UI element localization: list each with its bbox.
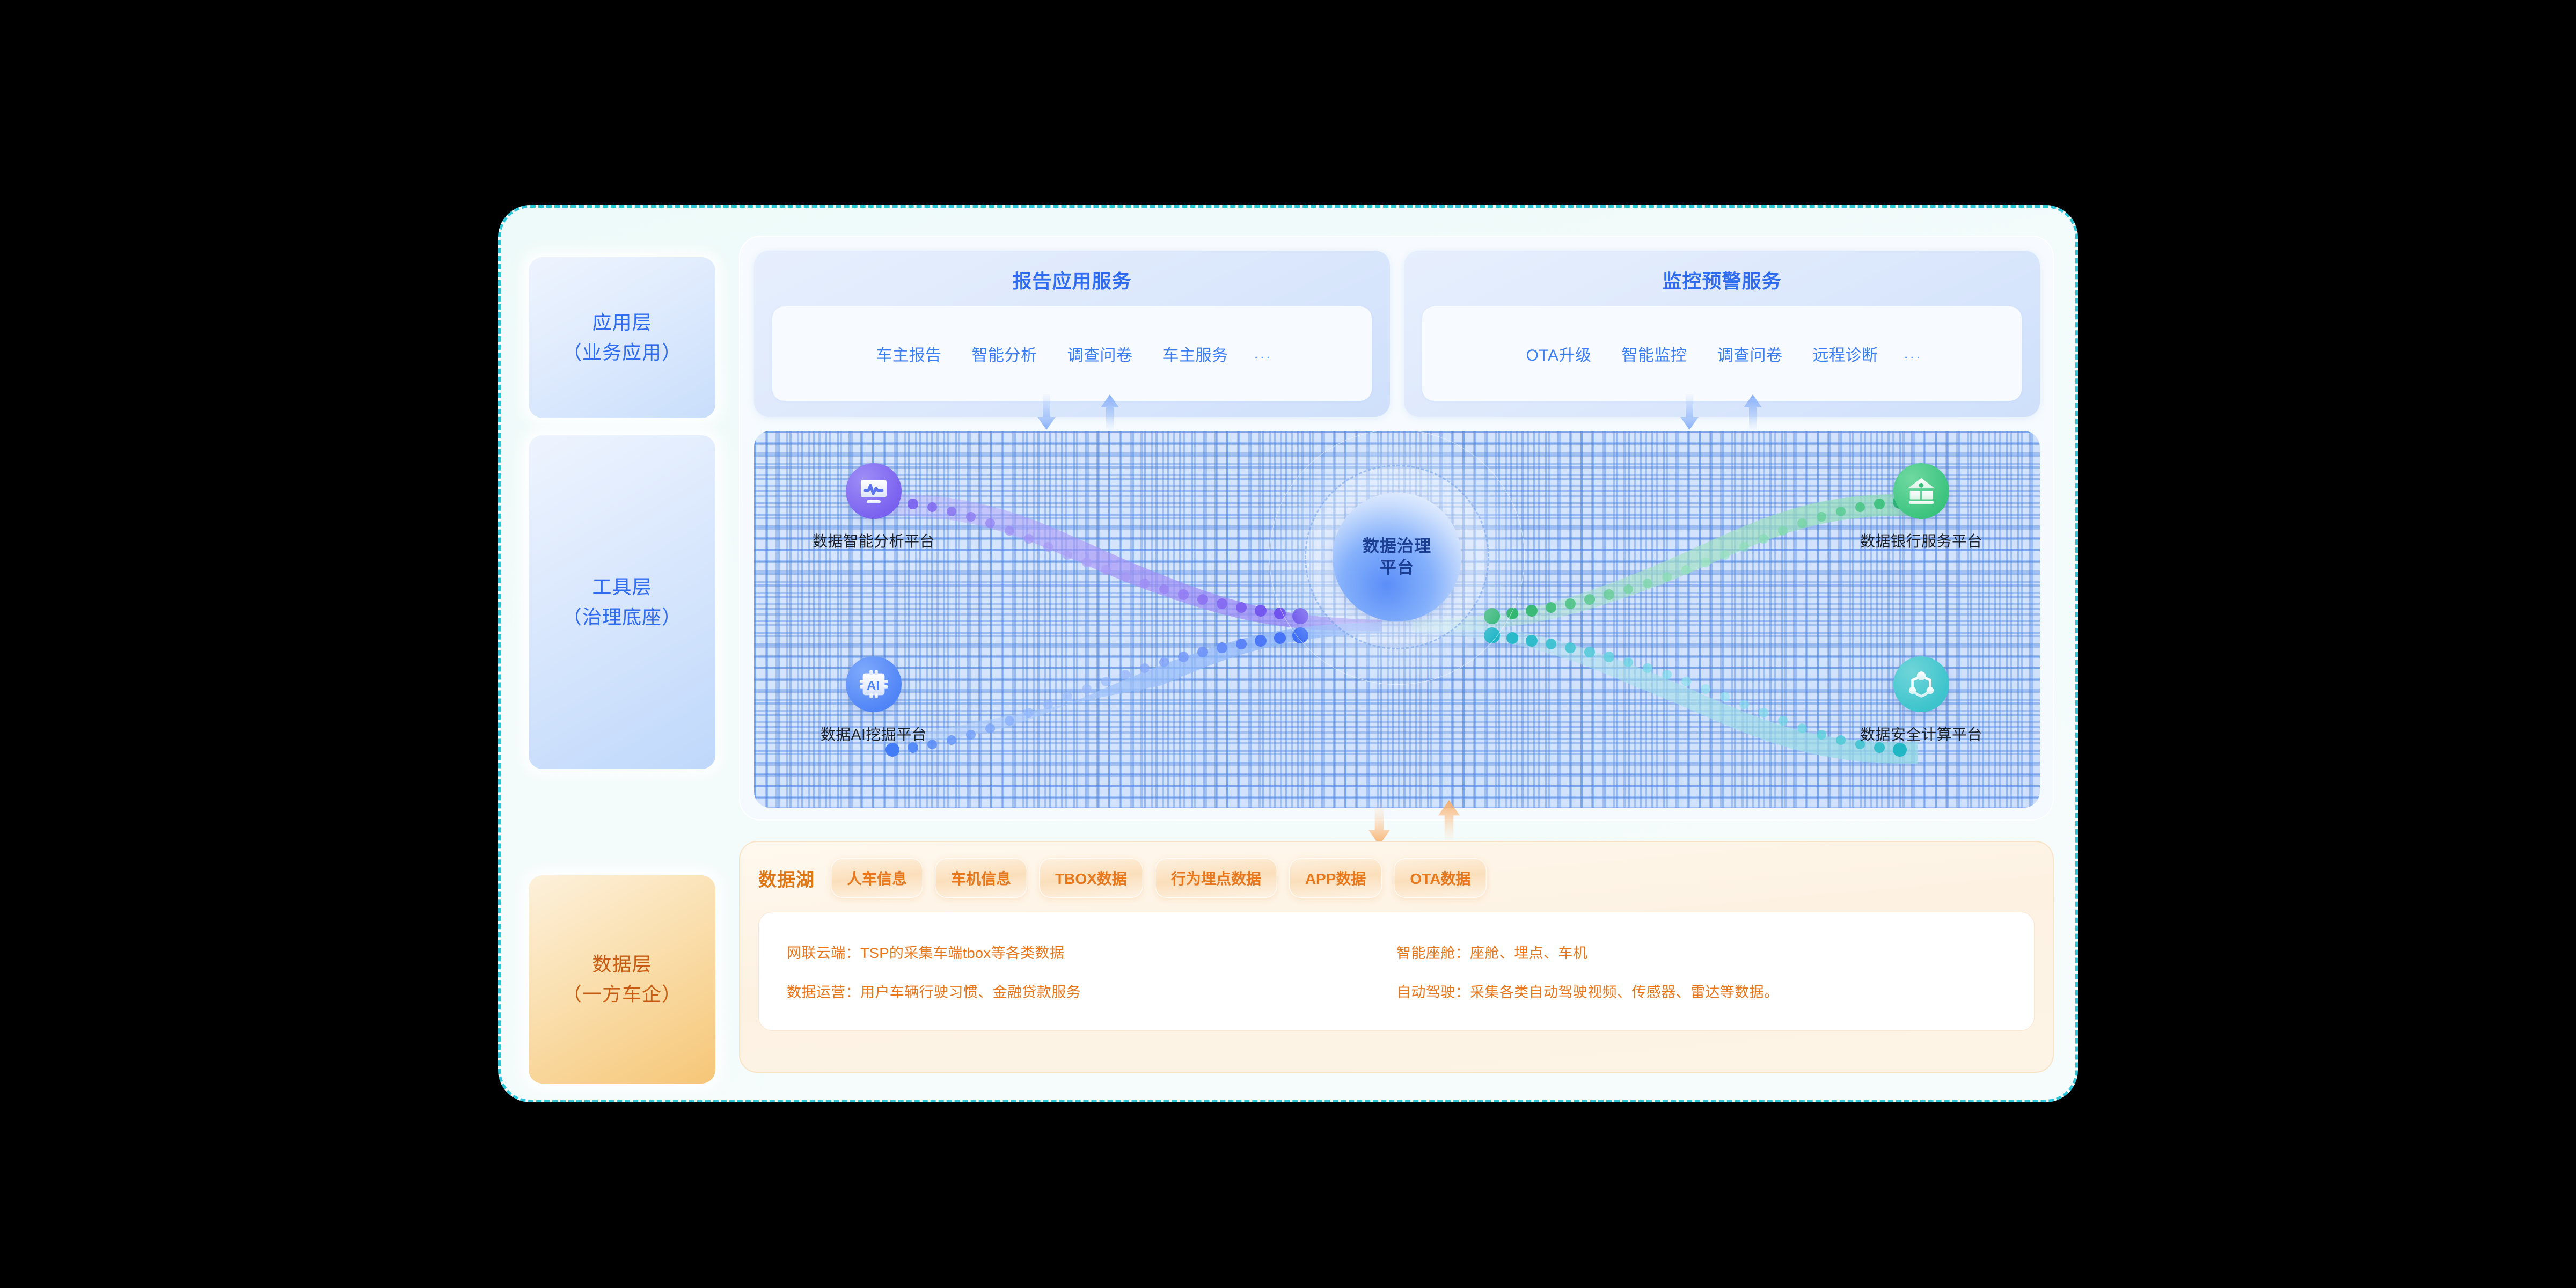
arrow-up-report-icon xyxy=(1101,394,1119,430)
svg-text:AI: AI xyxy=(867,679,880,693)
service-item-owner-report[interactable]: 车主报告 xyxy=(861,342,956,365)
arrow-down-report-icon xyxy=(1037,394,1056,430)
data-tag-vehicle-machine[interactable]: 车机信息 xyxy=(935,858,1027,898)
arrow-down-datalake-icon xyxy=(1365,803,1394,845)
data-lake-tag-row: 数据湖 人车信息 车机信息 TBOX数据 行为埋点数据 APP数据 OTA数据 xyxy=(758,858,2035,898)
layer-data-title: 数据层 xyxy=(592,949,652,979)
service-card-report-items: 车主报告 智能分析 调查问卷 车主服务 ... xyxy=(772,306,1372,401)
arrow-up-datalake-icon xyxy=(1435,800,1463,842)
architecture-diagram-container: 应用层 （业务应用） 工具层 （治理底座） 数据层 （一方车企） 报告应用服务 … xyxy=(498,205,2078,1102)
layer-label-tool[interactable]: 工具层 （治理底座） xyxy=(529,435,715,769)
layer-app-subtitle: （业务应用） xyxy=(562,338,682,368)
data-tag-behavior-tracking[interactable]: 行为埋点数据 xyxy=(1155,858,1277,898)
layer-label-data[interactable]: 数据层 （一方车企） xyxy=(529,875,715,1084)
detail-line-autonomous: 自动驾驶：采集各类自动驾驶视频、传感器、雷达等数据。 xyxy=(1396,980,2006,1001)
detail-line-cockpit: 智能座舱：座舱、埋点、车机 xyxy=(1396,941,2006,962)
platform-node-analysis[interactable]: 数据智能分析平台 xyxy=(812,463,935,551)
data-governance-hub[interactable]: 数据治理 平台 xyxy=(1333,493,1461,621)
platform-node-security-label: 数据安全计算平台 xyxy=(1860,723,1982,744)
service-item-smart-analysis[interactable]: 智能分析 xyxy=(956,342,1052,365)
data-tag-tbox[interactable]: TBOX数据 xyxy=(1039,858,1143,898)
data-tag-ota[interactable]: OTA数据 xyxy=(1394,858,1487,898)
layer-tool-subtitle: （治理底座） xyxy=(562,602,682,632)
shield-network-icon xyxy=(1893,656,1949,712)
service-card-monitor-items: OTA升级 智能监控 调查问卷 远程诊断 ... xyxy=(1422,306,2022,401)
data-lake-detail-box: 网联云端：TSP的采集车端tbox等各类数据 数据运营：用户车辆行驶习惯、金融贷… xyxy=(758,912,2035,1031)
service-card-report[interactable]: 报告应用服务 车主报告 智能分析 调查问卷 车主服务 ... xyxy=(754,251,1390,417)
service-item-ota-upgrade[interactable]: OTA升级 xyxy=(1511,342,1607,365)
detail-line-operations: 数据运营：用户车辆行驶习惯、金融贷款服务 xyxy=(787,980,1396,1001)
service-card-report-title: 报告应用服务 xyxy=(772,266,1372,294)
tool-layer-canvas: 数据智能分析平台 AI xyxy=(754,431,2040,808)
layer-label-column: 应用层 （业务应用） 工具层 （治理底座） 数据层 （一方车企） xyxy=(522,208,715,1100)
data-lake-title: 数据湖 xyxy=(758,865,815,891)
service-item-survey[interactable]: 调查问卷 xyxy=(1052,342,1147,365)
platform-node-bank-label: 数据银行服务平台 xyxy=(1860,530,1982,551)
ai-chip-icon: AI xyxy=(846,656,902,712)
data-tag-person-vehicle[interactable]: 人车信息 xyxy=(831,858,923,898)
layer-app-title: 应用层 xyxy=(592,308,652,338)
monitor-pulse-icon xyxy=(846,463,902,519)
layer-data-subtitle: （一方车企） xyxy=(562,979,682,1009)
service-item-smart-monitor[interactable]: 智能监控 xyxy=(1606,342,1702,365)
service-item-owner-service[interactable]: 车主服务 xyxy=(1147,342,1243,365)
hub-label-line2: 平台 xyxy=(1380,557,1414,579)
service-item-survey-2[interactable]: 调查问卷 xyxy=(1702,342,1797,365)
platform-node-security[interactable]: 数据安全计算平台 xyxy=(1860,656,1983,744)
hub-label-line1: 数据治理 xyxy=(1363,536,1431,557)
layer-label-application[interactable]: 应用层 （业务应用） xyxy=(529,257,715,418)
arrow-up-monitor-icon xyxy=(1744,394,1762,430)
detail-column-right: 智能座舱：座舱、埋点、车机 自动驾驶：采集各类自动驾驶视频、传感器、雷达等数据。 xyxy=(1396,936,2006,1007)
service-card-monitor-title: 监控预警服务 xyxy=(1422,266,2022,294)
platform-node-ai-label: 数据AI挖掘平台 xyxy=(821,723,927,744)
detail-column-left: 网联云端：TSP的采集车端tbox等各类数据 数据运营：用户车辆行驶习惯、金融贷… xyxy=(787,936,1396,1007)
service-item-more-monitor[interactable]: ... xyxy=(1893,345,1933,363)
service-item-more-report[interactable]: ... xyxy=(1243,345,1283,363)
arrow-down-monitor-icon xyxy=(1680,394,1699,430)
platform-node-analysis-label: 数据智能分析平台 xyxy=(813,530,935,551)
data-lake-panel: 数据湖 人车信息 车机信息 TBOX数据 行为埋点数据 APP数据 OTA数据 … xyxy=(739,841,2054,1073)
layer-tool-title: 工具层 xyxy=(592,572,652,602)
detail-line-cloud: 网联云端：TSP的采集车端tbox等各类数据 xyxy=(787,941,1396,962)
platform-node-bank[interactable]: 数据银行服务平台 xyxy=(1860,463,1983,551)
application-service-cards: 报告应用服务 车主报告 智能分析 调查问卷 车主服务 ... 监控预警服务 OT… xyxy=(754,251,2040,417)
service-card-monitor[interactable]: 监控预警服务 OTA升级 智能监控 调查问卷 远程诊断 ... xyxy=(1404,251,2040,417)
service-item-remote-diagnosis[interactable]: 远程诊断 xyxy=(1797,342,1893,365)
platform-node-ai[interactable]: AI 数据AI挖掘平台 xyxy=(812,656,935,744)
hub-core: 数据治理 平台 xyxy=(1333,493,1461,621)
data-tag-app[interactable]: APP数据 xyxy=(1289,858,1382,898)
bank-icon xyxy=(1893,463,1949,519)
